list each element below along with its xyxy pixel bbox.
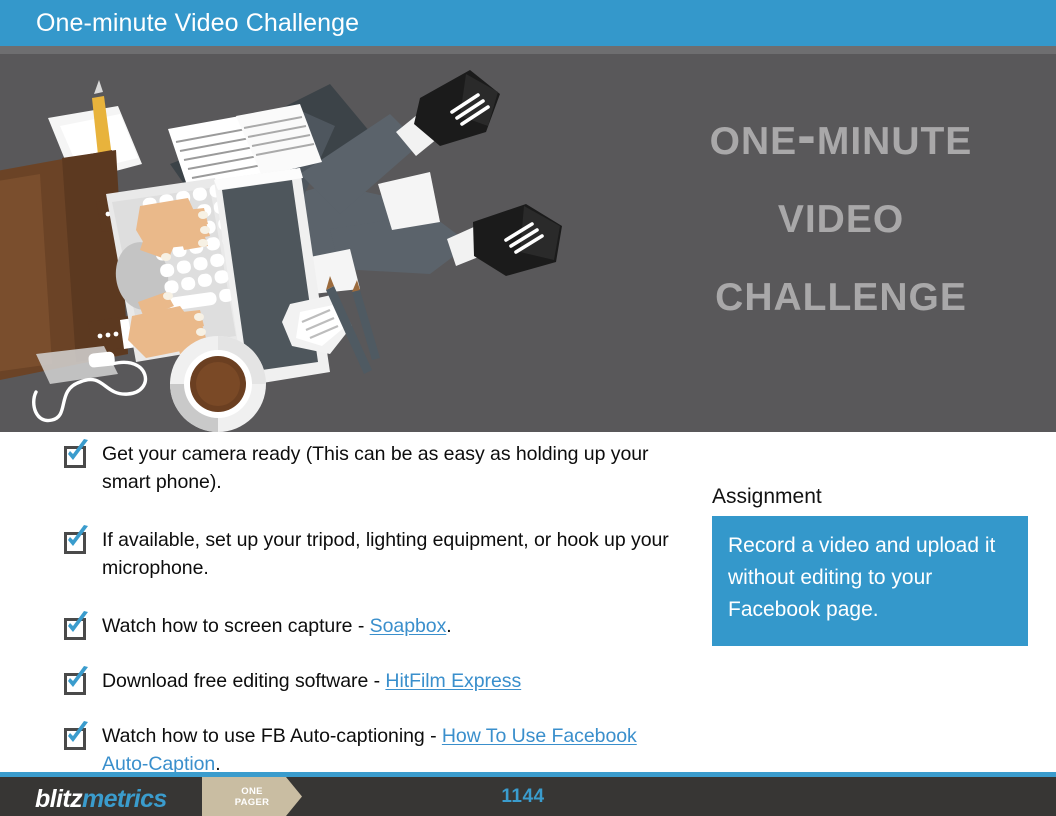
- checklist-item-3-text: Download free editing software -: [102, 670, 385, 692]
- checkbox-checked-icon[interactable]: [62, 615, 88, 641]
- checklist-item[interactable]: Download free editing software - HitFilm…: [62, 667, 682, 696]
- assignment-text: Record a video and upload it without edi…: [728, 530, 1012, 626]
- page-title: One-minute Video Challenge: [36, 9, 359, 38]
- checklist-item-2-text: Watch how to screen capture -: [102, 615, 370, 637]
- checklist-item-4-text: Watch how to use FB Auto-captioning -: [102, 725, 442, 747]
- logo-text-metrics: metrics: [82, 785, 167, 813]
- badge-line-2: PAGER: [235, 797, 270, 808]
- hero-title: One-Minute Video Challenge: [626, 96, 1056, 330]
- hero-section: One-Minute Video Challenge: [0, 54, 1056, 432]
- soapbox-link[interactable]: Soapbox: [370, 615, 447, 637]
- slide: One-minute Video Challenge: [0, 0, 1056, 816]
- checklist-item-text: If available, set up your tripod, lighti…: [102, 526, 682, 582]
- checklist-item[interactable]: Get your camera ready (This can be as ea…: [62, 440, 682, 496]
- blitzmetrics-logo[interactable]: blitzmetrics: [35, 785, 167, 814]
- hero-title-line-3: Challenge: [626, 252, 1056, 330]
- checklist-item-text: Watch how to screen capture - Soapbox.: [102, 612, 452, 640]
- checklist-item-2-period: .: [446, 615, 451, 637]
- one-pager-badge: ONE PAGER: [202, 777, 302, 816]
- logo-text-blitz: blitz: [35, 785, 82, 813]
- checklist-item-text: Download free editing software - HitFilm…: [102, 667, 521, 695]
- checklist: Get your camera ready (This can be as ea…: [62, 440, 682, 778]
- checklist-item[interactable]: Watch how to screen capture - Soapbox.: [62, 612, 682, 641]
- checklist-item[interactable]: If available, set up your tripod, lighti…: [62, 526, 682, 582]
- hitfilm-express-link[interactable]: HitFilm Express: [385, 670, 521, 692]
- checklist-item-text: Get your camera ready (This can be as ea…: [102, 440, 682, 496]
- checkbox-checked-icon[interactable]: [62, 670, 88, 696]
- header-bar: One-minute Video Challenge: [0, 0, 1056, 46]
- checkbox-checked-icon[interactable]: [62, 725, 88, 751]
- footer-bar: blitzmetrics ONE PAGER 1144: [0, 777, 1056, 816]
- hero-top-divider: [0, 46, 1056, 54]
- page-number-value: 1144: [501, 786, 544, 808]
- checklist-item[interactable]: Watch how to use FB Auto-captioning - Ho…: [62, 722, 682, 778]
- checkbox-checked-icon[interactable]: [62, 443, 88, 469]
- hero-title-line-2: Video: [626, 174, 1056, 252]
- checklist-item-0-text: Get your camera ready (This can be as ea…: [102, 443, 648, 493]
- assignment-label: Assignment: [712, 485, 822, 509]
- assignment-box: Record a video and upload it without edi…: [712, 516, 1028, 646]
- hero-title-line-1: One-Minute: [626, 96, 1056, 174]
- badge-line-1: ONE: [241, 786, 263, 797]
- desk-workspace-illustration: [0, 54, 640, 432]
- checklist-item-1-text: If available, set up your tripod, lighti…: [102, 529, 669, 579]
- checklist-item-text: Watch how to use FB Auto-captioning - Ho…: [102, 722, 682, 778]
- checkbox-checked-icon[interactable]: [62, 529, 88, 555]
